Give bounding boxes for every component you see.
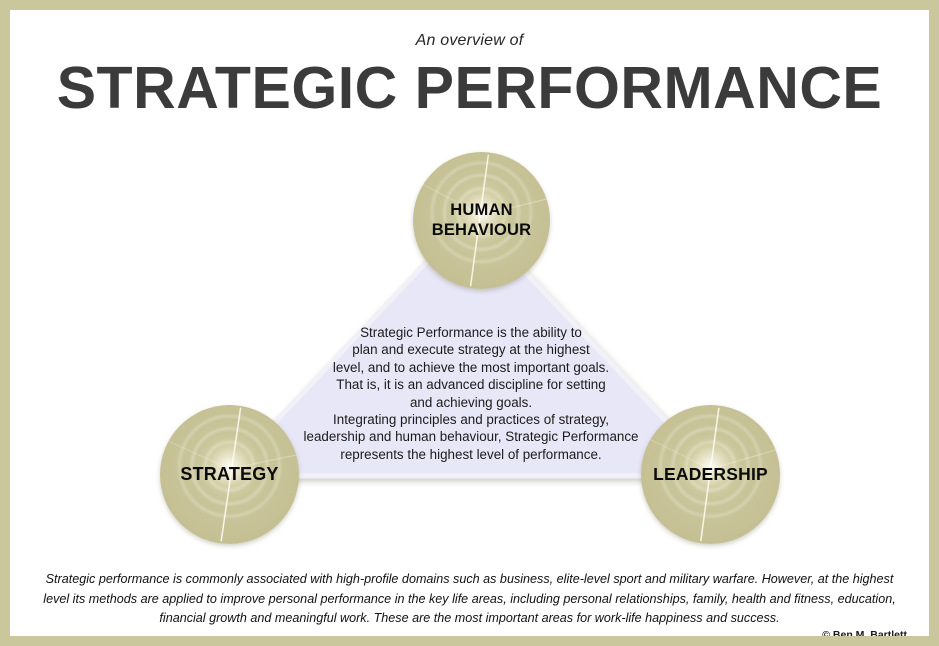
- page-title: STRATEGIC PERFORMANCE: [10, 58, 929, 120]
- node-human-behaviour-label: HUMAN BEHAVIOUR: [432, 201, 532, 240]
- center-line-5: and achieving goals.: [281, 394, 661, 411]
- center-description: Strategic Performance is the ability to …: [281, 324, 661, 463]
- node-leadership[interactable]: LEADERSHIP: [641, 405, 780, 544]
- center-line-6: Integrating principles and practices of …: [281, 411, 661, 428]
- center-line-2: plan and execute strategy at the highest: [281, 341, 661, 358]
- center-line-4: That is, it is an advanced discipline fo…: [281, 376, 661, 393]
- center-line-3: level, and to achieve the most important…: [281, 359, 661, 376]
- poster-frame: An overview of STRATEGIC PERFORMANCE Str…: [0, 0, 939, 646]
- center-line-8: represents the highest level of performa…: [281, 446, 661, 463]
- center-line-7: leadership and human behaviour, Strategi…: [281, 428, 661, 445]
- footer-note: Strategic performance is commonly associ…: [40, 570, 899, 629]
- node-human-behaviour[interactable]: HUMAN BEHAVIOUR: [413, 152, 550, 289]
- node-strategy[interactable]: STRATEGY: [160, 405, 299, 544]
- node-human-behaviour-label-line1: HUMAN: [450, 201, 512, 219]
- node-human-behaviour-label-line2: BEHAVIOUR: [432, 221, 532, 239]
- subtitle: An overview of: [10, 32, 929, 50]
- node-strategy-label: STRATEGY: [180, 464, 278, 485]
- copyright-text: © Ben M. Bartlett: [822, 629, 907, 636]
- poster-canvas: An overview of STRATEGIC PERFORMANCE Str…: [10, 10, 929, 636]
- node-leadership-label: LEADERSHIP: [653, 464, 768, 485]
- center-line-1: Strategic Performance is the ability to: [281, 324, 661, 341]
